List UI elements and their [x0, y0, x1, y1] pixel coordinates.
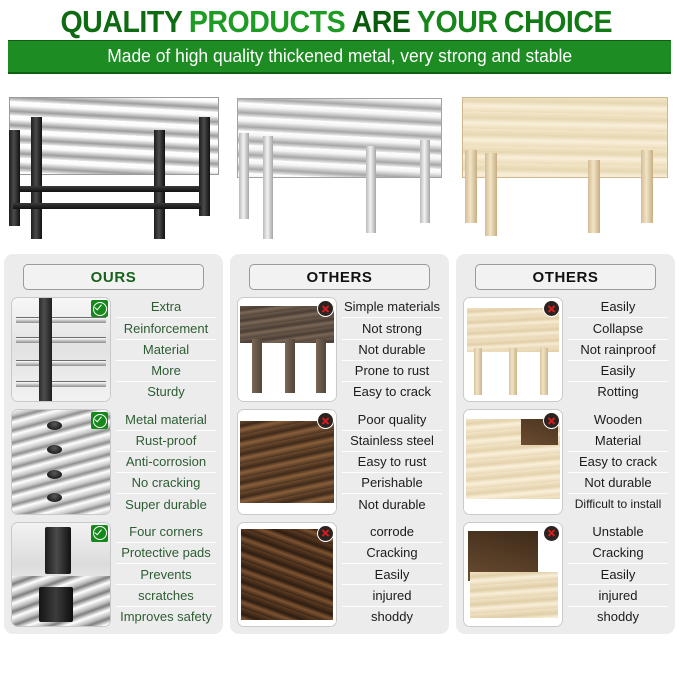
feature-item: corrode: [342, 522, 442, 543]
feature-item: Perishable: [342, 473, 442, 494]
feature-row: Extra Reinforcement Material More Sturdy: [11, 297, 216, 402]
product-photo-strip: [0, 74, 679, 250]
feature-list: Wooden Material Easy to crack Not durabl…: [568, 409, 668, 514]
subtitle-text: Made of high quality thickened metal, ve…: [107, 46, 572, 67]
feature-item: Prone to rust: [342, 361, 442, 382]
feature-item: Not strong: [342, 318, 442, 339]
title-word-5: CHOICE: [504, 4, 612, 40]
thumb-corner-pad: [11, 522, 111, 627]
feature-item: Rotting: [568, 382, 668, 402]
feature-item: Sturdy: [116, 382, 216, 402]
feature-rows: Simple materials Not strong Not durable …: [237, 297, 442, 627]
check-icon: [91, 300, 108, 317]
feature-item: Prevents: [116, 564, 216, 585]
cross-icon: [543, 300, 560, 317]
column-heading-label: OURS: [91, 269, 137, 286]
comparison-section: OURS Extra: [0, 250, 679, 640]
bed-leg-back-right: [199, 117, 210, 217]
feature-item: Easily: [342, 564, 442, 585]
cross-icon: [317, 300, 334, 317]
feature-item: Material: [568, 431, 668, 452]
feature-item: Easily: [568, 297, 668, 318]
feature-row: Metal material Rust-proof Anti-corrosion…: [11, 409, 216, 514]
cross-icon: [317, 525, 334, 542]
feature-item: Anti-corrosion: [116, 452, 216, 473]
thumb-weathered-wood-frame: [237, 297, 337, 402]
title-word-2: PRODUCTS: [189, 4, 345, 40]
feature-item: Metal material: [116, 409, 216, 430]
feature-row: Simple materials Not strong Not durable …: [237, 297, 442, 402]
feature-item: Reinforcement: [116, 318, 216, 339]
feature-item: Cracking: [568, 543, 668, 564]
feature-item: Extra: [116, 297, 216, 318]
comparison-column-others-2: OTHERS Easily Collap: [456, 254, 675, 634]
feature-item: Not durable: [568, 473, 668, 494]
feature-item: shoddy: [342, 607, 442, 627]
thumb-plain-wood-panel: [463, 297, 563, 402]
comparison-column-others-1: OTHERS Simple materials: [230, 254, 449, 634]
feature-item: More: [116, 361, 216, 382]
feature-item: Easy to rust: [342, 452, 442, 473]
bed-leg-back-left: [9, 130, 20, 226]
thumb-cracked-wood: [463, 409, 563, 514]
bed-cross-rail-front: [13, 203, 201, 209]
thumb-reinforcement-bar: [11, 297, 111, 402]
feature-item: Difficult to install: [568, 494, 668, 514]
wooden-raised-planter-box-art: [453, 80, 677, 246]
check-icon: [91, 412, 108, 429]
feature-item: Easily: [568, 564, 668, 585]
feature-item: Protective pads: [116, 543, 216, 564]
feature-item: injured: [342, 585, 442, 606]
feature-row: Poor quality Stainless steel Easy to rus…: [237, 409, 442, 514]
feature-item: injured: [568, 585, 668, 606]
feature-list: Poor quality Stainless steel Easy to rus…: [342, 409, 442, 514]
feature-list: Metal material Rust-proof Anti-corrosion…: [116, 409, 216, 514]
bed-leg-left: [31, 117, 42, 240]
feature-item: Simple materials: [342, 297, 442, 318]
thumb-unstable-wood-corner: [463, 522, 563, 627]
feature-item: Stainless steel: [342, 431, 442, 452]
feature-item: Collapse: [568, 318, 668, 339]
feature-item: shoddy: [568, 607, 668, 627]
feature-item: Easy to crack: [342, 382, 442, 402]
feature-item: Easy to crack: [568, 452, 668, 473]
column-heading-label: OTHERS: [532, 269, 598, 286]
feature-item: scratches: [116, 585, 216, 606]
feature-list: corrode Cracking Easily injured shoddy: [342, 522, 442, 627]
feature-item: Wooden: [568, 409, 668, 430]
feature-row: Unstable Cracking Easily injured shoddy: [463, 522, 668, 627]
bed-cross-rail-back: [20, 186, 199, 192]
feature-item: Poor quality: [342, 409, 442, 430]
title-word-3: ARE: [352, 4, 411, 40]
feature-item: Material: [116, 340, 216, 361]
feature-item: Not rainproof: [568, 340, 668, 361]
infographic-page: QUALITY PRODUCTS ARE YOUR CHOICE Made of…: [0, 0, 679, 678]
bed-leg-right: [154, 130, 165, 240]
planter-leg-back-left: [465, 150, 477, 223]
planter-leg-back-right: [641, 150, 653, 223]
product-photo-metal-reinforced: [2, 80, 226, 246]
bed-leg-back-left: [239, 133, 249, 219]
feature-item: Not durable: [342, 494, 442, 514]
planter-leg-left: [485, 153, 497, 236]
feature-item: Improves safety: [116, 607, 216, 627]
feature-item: Unstable: [568, 522, 668, 543]
check-icon: [91, 525, 108, 542]
feature-item: Cracking: [342, 543, 442, 564]
feature-item: Four corners: [116, 522, 216, 543]
feature-item: Easily: [568, 361, 668, 382]
cross-icon: [543, 525, 560, 542]
metal-raised-bed-with-reinforced-frame-art: [2, 80, 226, 246]
subtitle-band: Made of high quality thickened metal, ve…: [8, 40, 671, 74]
feature-row: Four corners Protective pads Prevents sc…: [11, 522, 216, 627]
bed-leg-mid: [366, 146, 376, 232]
feature-list: Extra Reinforcement Material More Sturdy: [116, 297, 216, 402]
subtitle-band-wrap: Made of high quality thickened metal, ve…: [0, 40, 679, 74]
feature-list: Unstable Cracking Easily injured shoddy: [568, 522, 668, 627]
feature-row: Wooden Material Easy to crack Not durabl…: [463, 409, 668, 514]
feature-rows: Extra Reinforcement Material More Sturdy: [11, 297, 216, 627]
feature-list: Simple materials Not strong Not durable …: [342, 297, 442, 402]
feature-item: Not durable: [342, 340, 442, 361]
page-title: QUALITY PRODUCTS ARE YOUR CHOICE: [27, 0, 652, 40]
product-photo-wood: [453, 80, 677, 246]
feature-row: corrode Cracking Easily injured shoddy: [237, 522, 442, 627]
bed-leg-left: [263, 136, 273, 239]
feature-list: Easily Collapse Not rainproof Easily Rot…: [568, 297, 668, 402]
thumb-rusted-planter: [237, 409, 337, 514]
title-word-1: QUALITY: [60, 4, 182, 40]
bed-leg-back-right: [420, 140, 430, 223]
column-heading-ours: OURS: [23, 264, 204, 290]
galvanized-metal-raised-bed-art: [228, 80, 452, 246]
planter-leg-mid: [588, 160, 600, 233]
title-word-4: YOUR: [417, 4, 498, 40]
feature-item: Rust-proof: [116, 431, 216, 452]
column-heading-others-1: OTHERS: [249, 264, 430, 290]
feature-item: Super durable: [116, 494, 216, 514]
column-heading-others-2: OTHERS: [475, 264, 656, 290]
column-heading-label: OTHERS: [306, 269, 372, 286]
thumb-corroded-corner: [237, 522, 337, 627]
thumb-metal-screw: [11, 409, 111, 514]
feature-list: Four corners Protective pads Prevents sc…: [116, 522, 216, 627]
feature-item: No cracking: [116, 473, 216, 494]
feature-rows: Easily Collapse Not rainproof Easily Rot…: [463, 297, 668, 627]
comparison-column-ours: OURS Extra: [4, 254, 223, 634]
product-photo-metal-plain: [228, 80, 452, 246]
feature-row: Easily Collapse Not rainproof Easily Rot…: [463, 297, 668, 402]
